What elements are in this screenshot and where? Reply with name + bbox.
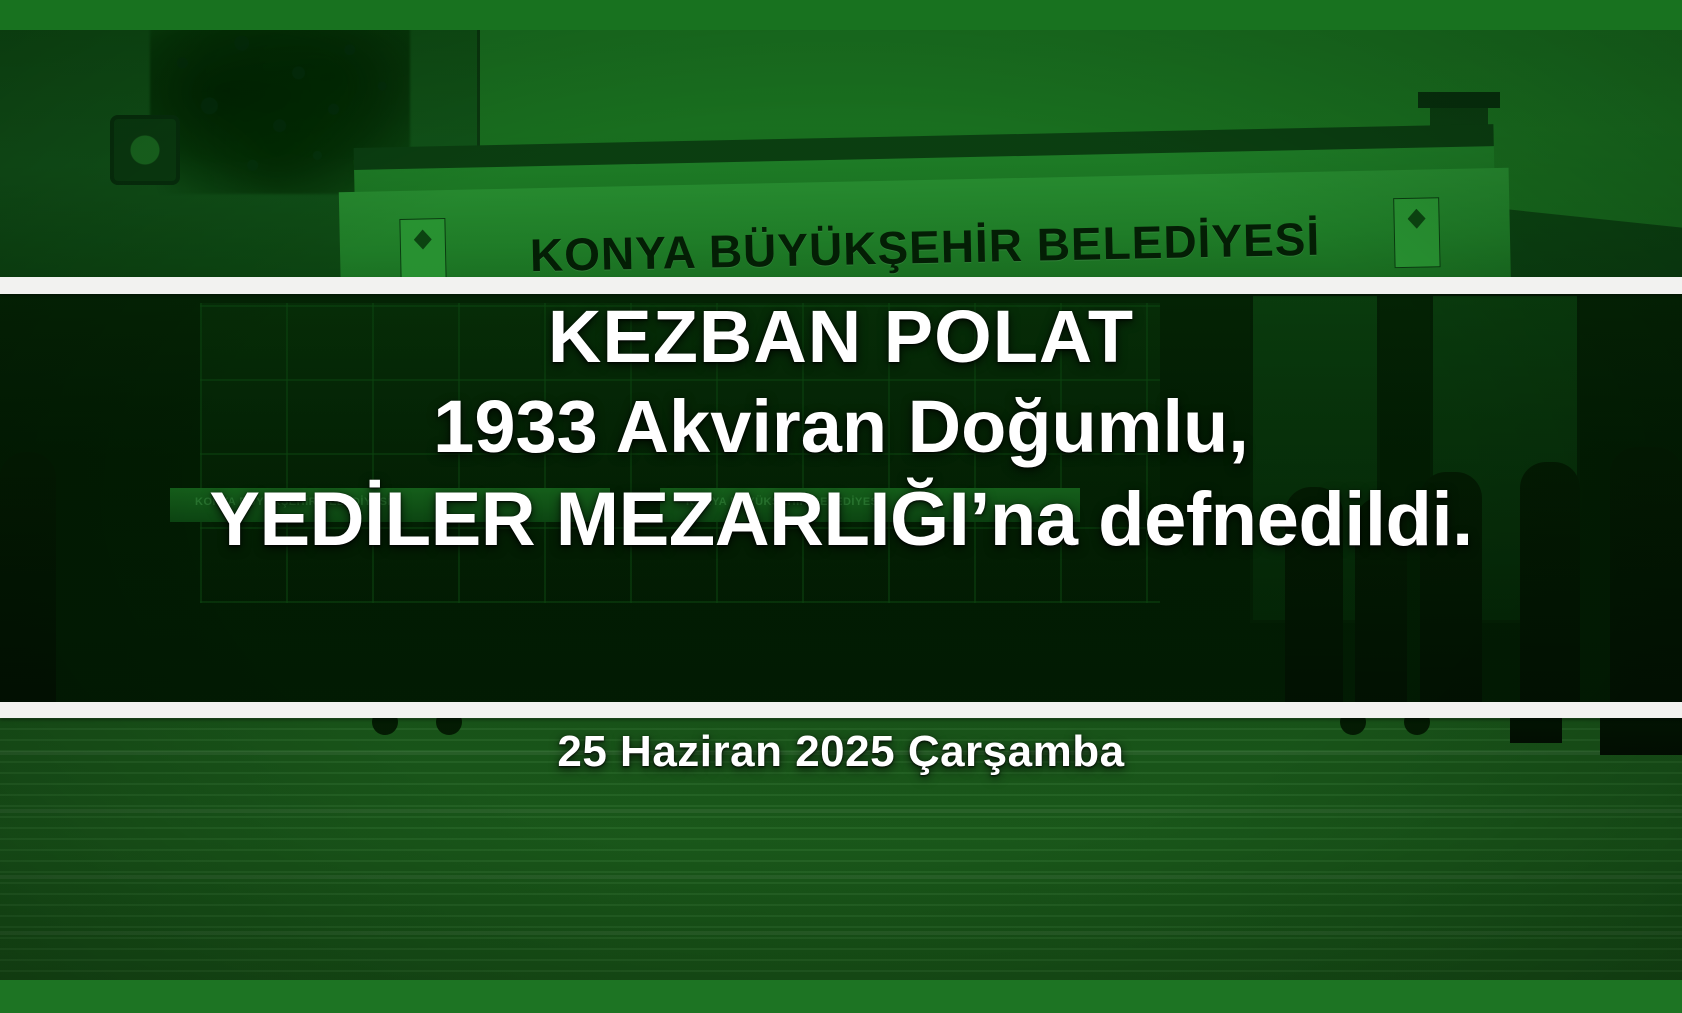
carpet-stripe: [0, 931, 1682, 935]
divider-lower: [0, 702, 1682, 718]
loudspeaker: [110, 115, 180, 185]
coffin-banner-text: KONYA BÜYÜKŞEHİR BELEDİYESİ: [340, 208, 1511, 277]
birth-info: 1933 Akviran Doğumlu,: [0, 390, 1682, 482]
headline-block: KEZBAN POLAT 1933 Akviran Doğumlu, YEDİL…: [0, 300, 1682, 558]
carpet-stripe: [0, 875, 1682, 879]
memorial-announcement-poster: KONYA BÜYÜKŞEHİR BELEDİYESİ KONYA BÜYÜKŞ…: [0, 0, 1682, 1013]
carpet-stripe: [0, 809, 1682, 813]
burial-info: YEDİLER MEZARLIĞI’na defnedildi.: [0, 482, 1682, 558]
announcement-date: 25 Haziran 2025 Çarşamba: [0, 727, 1682, 777]
deceased-name: KEZBAN POLAT: [0, 300, 1682, 390]
coffin-lid: [354, 124, 1494, 170]
bottom-green-band: [0, 980, 1682, 1013]
photo-zone-upper: KONYA BÜYÜKŞEHİR BELEDİYESİ: [0, 30, 1682, 277]
divider-upper: [0, 277, 1682, 294]
top-green-band: [0, 0, 1682, 30]
